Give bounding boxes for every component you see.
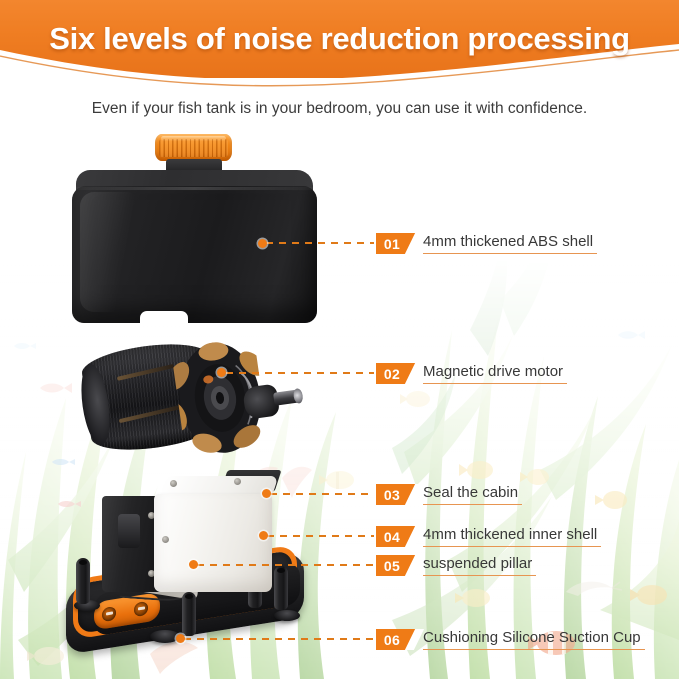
- callout-06[interactable]: 06 Cushioning Silicone Suction Cup: [376, 628, 645, 650]
- callout-label-02: Magnetic drive motor: [423, 362, 567, 384]
- inner-shell-screw-icon: [170, 480, 177, 487]
- callout-dot-03: [262, 489, 271, 498]
- callout-leader-05: [197, 564, 374, 566]
- callout-number-05: 05: [384, 558, 400, 574]
- callout-label-04: 4mm thickened inner shell: [423, 525, 601, 547]
- callout-badge-01: 01: [376, 233, 410, 254]
- header-banner: Six levels of noise reduction processing: [0, 0, 679, 92]
- callout-number-04: 04: [384, 529, 400, 545]
- callout-dot-02: [217, 368, 226, 377]
- suction-cup: [274, 610, 300, 621]
- callout-badge-05: 05: [376, 555, 410, 576]
- callout-02[interactable]: 02 Magnetic drive motor: [376, 362, 567, 384]
- callout-number-01: 01: [384, 236, 400, 252]
- callout-dot-05: [189, 560, 198, 569]
- knob-ribs: [159, 139, 228, 157]
- shell-edge-highlight: [74, 187, 315, 190]
- callout-05[interactable]: 05 suspended pillar: [376, 554, 536, 576]
- clamp-screw-icon: [134, 601, 148, 617]
- abs-shell-assembly: [62, 134, 322, 334]
- suspended-pillar: [76, 558, 90, 604]
- clamp-screw-icon: [102, 606, 116, 622]
- inner-shell-screw-icon: [162, 536, 169, 543]
- inner-shell-screw-icon: [234, 478, 241, 485]
- pillar-bore: [277, 568, 285, 573]
- motor-housing-vent: [118, 514, 140, 548]
- callout-leader-04: [267, 535, 374, 537]
- callout-label-06: Cushioning Silicone Suction Cup: [423, 628, 645, 650]
- page-subtitle: Even if your fish tank is in your bedroo…: [0, 100, 679, 118]
- shell-bottom-notch: [140, 311, 188, 325]
- knob-highlight: [161, 136, 226, 141]
- callout-leader-01: [266, 242, 374, 244]
- callout-badge-03: 03: [376, 484, 410, 505]
- page-title: Six levels of noise reduction processing: [0, 0, 679, 78]
- callout-04[interactable]: 04 4mm thickened inner shell: [376, 525, 601, 547]
- motor-output-shaft: [242, 378, 304, 422]
- callout-dot-01: [258, 239, 267, 248]
- callout-badge-02: 02: [376, 363, 410, 384]
- orange-knob-icon: [155, 134, 232, 161]
- infographic-page: Six levels of noise reduction processing…: [0, 0, 679, 679]
- callout-number-02: 02: [384, 366, 400, 382]
- callout-01[interactable]: 01 4mm thickened ABS shell: [376, 232, 597, 254]
- callout-number-03: 03: [384, 487, 400, 503]
- shell-body: [72, 170, 317, 323]
- callout-leader-02: [226, 372, 374, 374]
- callout-label-01: 4mm thickened ABS shell: [423, 232, 597, 254]
- callout-badge-06: 06: [376, 629, 410, 650]
- inner-shell-front: [154, 494, 272, 592]
- callout-leader-03: [270, 493, 374, 495]
- callout-dot-06: [176, 634, 185, 643]
- callout-label-05: suspended pillar: [423, 554, 536, 576]
- callout-badge-04: 04: [376, 526, 410, 547]
- callout-number-06: 06: [384, 632, 400, 648]
- callout-leader-06: [184, 638, 374, 640]
- pillar-bore: [79, 560, 87, 565]
- callout-label-03: Seal the cabin: [423, 483, 522, 505]
- magnetic-drive-motor-part: [86, 340, 301, 458]
- pillar-bore: [185, 594, 193, 599]
- shell-sheen: [80, 192, 140, 312]
- callout-dot-04: [259, 531, 268, 540]
- callout-03[interactable]: 03 Seal the cabin: [376, 483, 522, 505]
- suspended-pillar: [182, 592, 196, 636]
